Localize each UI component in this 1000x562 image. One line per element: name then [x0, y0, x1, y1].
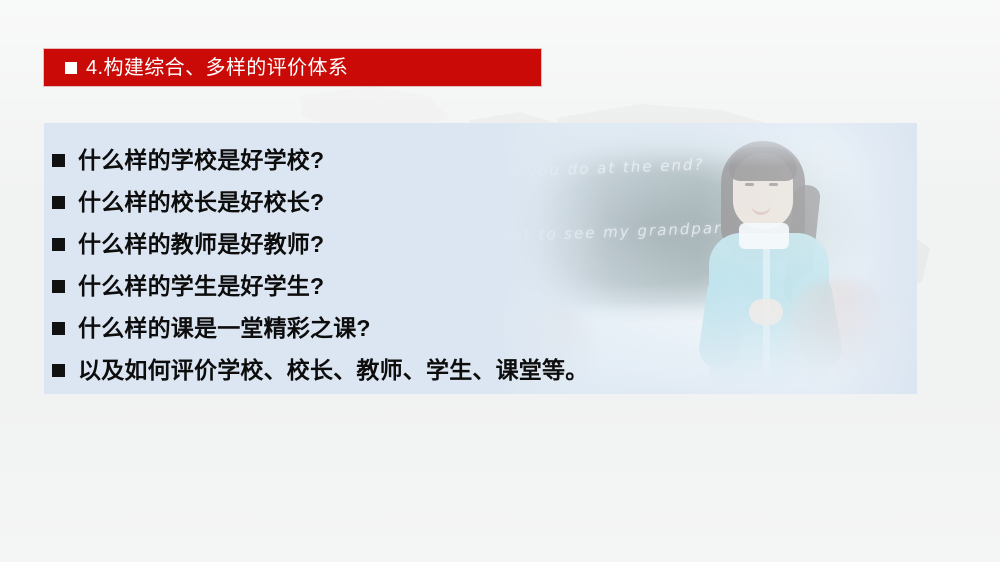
- question-list: 什么样的学校是好学校? 什么样的校长是好校长? 什么样的教师是好教师? 什么样的…: [44, 123, 588, 391]
- content-panel: d you do at the end? ant to see my grand…: [44, 123, 917, 394]
- list-item: 什么样的学生是好学生?: [52, 265, 588, 307]
- list-item-label: 什么样的校长是好校长?: [78, 191, 324, 214]
- square-bullet-icon: [52, 154, 65, 167]
- page-title: 4.构建综合、多样的评价体系: [86, 58, 348, 78]
- square-bullet-icon: [52, 364, 65, 377]
- list-item: 以及如何评价学校、校长、教师、学生、课堂等。: [52, 349, 588, 391]
- list-item-label: 什么样的学校是好学校?: [78, 149, 324, 172]
- list-item-label: 什么样的教师是好教师?: [78, 233, 324, 256]
- list-item: 什么样的校长是好校长?: [52, 181, 588, 223]
- square-bullet-icon: [52, 280, 65, 293]
- list-item: 什么样的课是一堂精彩之课?: [52, 307, 588, 349]
- list-item-label: 以及如何评价学校、校长、教师、学生、课堂等。: [78, 359, 588, 382]
- square-bullet-icon: [52, 238, 65, 251]
- list-item: 什么样的学校是好学校?: [52, 139, 588, 181]
- list-item: 什么样的教师是好教师?: [52, 223, 588, 265]
- square-bullet-icon: [52, 196, 65, 209]
- square-bullet-icon: [65, 62, 77, 74]
- slide-canvas: 4.构建综合、多样的评价体系 d you do at the end? ant …: [0, 0, 1000, 562]
- list-item-label: 什么样的课是一堂精彩之课?: [78, 317, 371, 340]
- square-bullet-icon: [52, 322, 65, 335]
- list-item-label: 什么样的学生是好学生?: [78, 275, 324, 298]
- section-title-bar: 4.构建综合、多样的评价体系: [44, 49, 541, 86]
